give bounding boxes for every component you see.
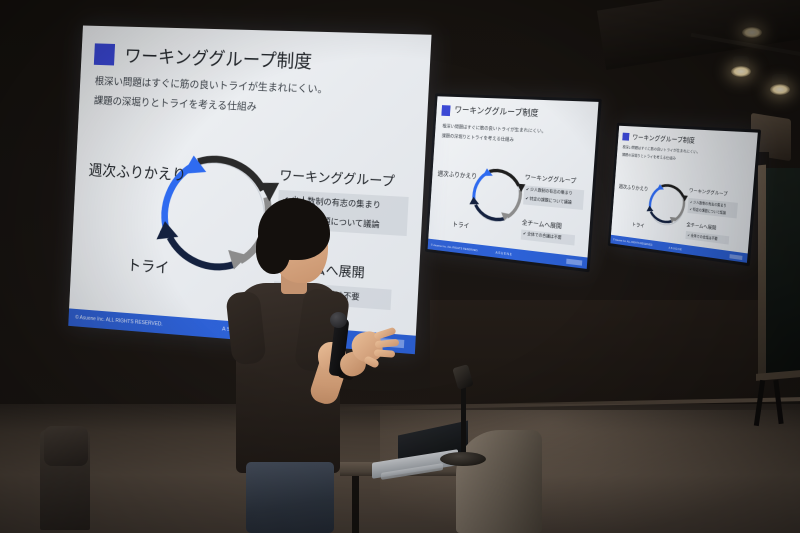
slide-footer-copyright: © Asuene Inc. ALL RIGHTS RESERVED. [75,315,163,328]
chair-back [44,426,88,466]
screen-secondary: ワーキンググループ制度 根深い問題はすぐに筋の良いトライが生まれにくい。 課題の… [428,96,599,269]
ceiling-spotlight-icon [733,56,749,69]
slide-canvas-secondary: ワーキンググループ制度 根深い問題はすぐに筋の良いトライが生まれにくい。 課題の… [428,96,599,269]
ceiling-spotlight-icon [744,17,756,26]
presentation-photo-scene: ワーキンググループ制度 根深い問題はすぐに筋の良いトライが生まれにくい。 課題の… [0,0,800,533]
slide-canvas-tertiary: ワーキンググループ制度 根深い問題はすぐに筋の良いトライが生まれにくい。 課題の… [610,126,757,263]
presenter-jeans [246,462,334,533]
cycle-label-try: トライ [452,218,470,230]
slide-footer-logo-mark [730,254,743,260]
lectern [456,430,542,533]
microphone-head-icon [330,312,347,328]
screen-tertiary: ワーキンググループ制度 根深い問題はすぐに筋の良いトライが生まれにくい。 課題の… [610,126,757,263]
ceiling-spotlight-icon [772,74,788,87]
microphone-stand-pole [461,382,466,460]
slide-footer-copyright: © Asuene Inc. ALL RIGHTS RESERVED. [431,242,479,252]
slide-footer-logo-mark [566,258,582,265]
glass-panel [762,168,800,373]
presenter-hair-back [256,228,290,274]
cycle-label-try: トライ [631,221,644,229]
desk-leg [352,476,359,533]
microphone-stand-base [440,452,486,466]
cycle-label-try: トライ [127,254,170,278]
slide-footer-brand: ASUENE [669,245,683,251]
window-frame [758,165,766,378]
slide-footer-brand: ASUENE [495,250,512,256]
presenter-finger [374,349,395,357]
